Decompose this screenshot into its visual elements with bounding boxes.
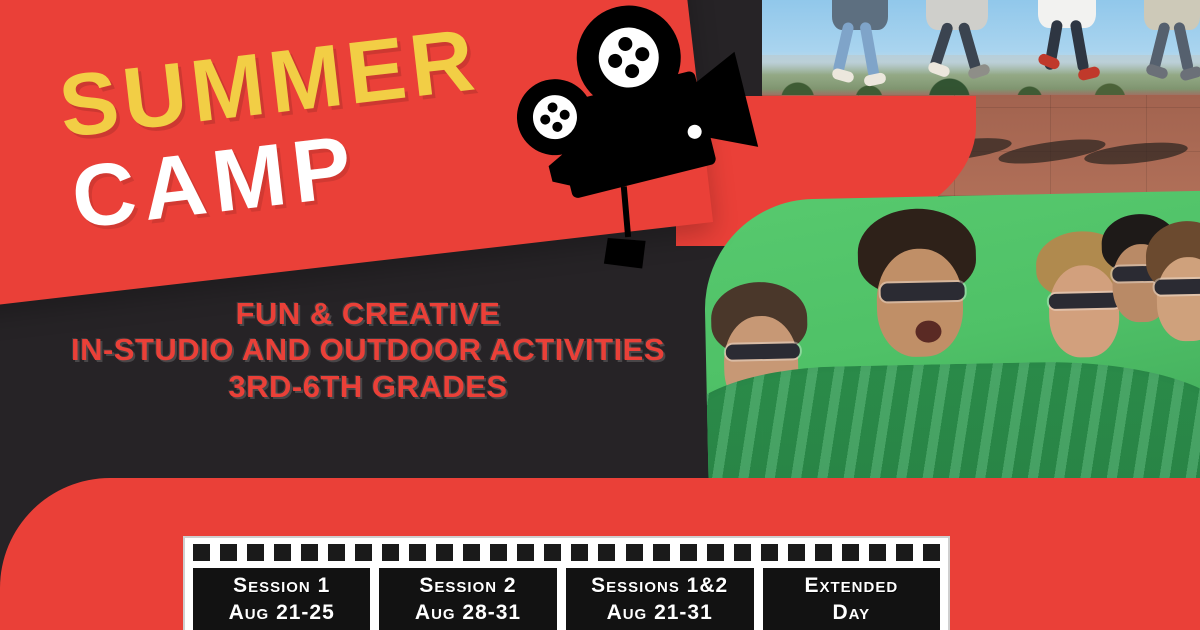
sprocket-hole <box>896 544 913 561</box>
sprocket-hole <box>247 544 264 561</box>
sprocket-hole <box>869 544 886 561</box>
session-title: Sessions 1&2 <box>591 574 728 598</box>
green-screen-photo <box>703 191 1200 521</box>
sunglasses-icon <box>1049 293 1121 310</box>
headline-line-3: 3RD-6TH GRADES <box>0 369 736 405</box>
summer-camp-poster: SUMMER CAMP <box>0 0 1200 630</box>
sprocket-hole <box>328 544 345 561</box>
sunglasses-icon <box>1154 278 1200 294</box>
filmstrip-sessions: Session 1 Aug 21-25 9:00-3:00 Session 2 … <box>183 536 950 630</box>
sprocket-hole <box>598 544 615 561</box>
session-dates: Aug 28-31 <box>415 601 521 625</box>
photo-skyline <box>762 55 1200 99</box>
sprocket-hole <box>707 544 724 561</box>
sprocket-hole <box>355 544 372 561</box>
session-cell[interactable]: Session 2 Aug 28-31 9:00-3:00 <box>379 568 556 630</box>
sprocket-hole <box>815 544 832 561</box>
sprocket-hole <box>436 544 453 561</box>
sprocket-hole <box>193 544 210 561</box>
filmstrip-sprockets <box>193 544 940 561</box>
headline-block: FUN & CREATIVE IN-STUDIO AND OUTDOOR ACT… <box>0 296 736 405</box>
sprocket-hole <box>680 544 697 561</box>
movie-camera-icon <box>505 0 765 269</box>
session-cell[interactable]: Sessions 1&2 Aug 21-31 9:00-3:00 <box>566 568 754 630</box>
session-title: Session 1 <box>233 574 330 598</box>
session-cell[interactable]: Session 1 Aug 21-25 9:00-3:00 <box>193 568 370 630</box>
sprocket-hole <box>220 544 237 561</box>
sprocket-hole <box>571 544 588 561</box>
session-title: Session 2 <box>419 574 516 598</box>
sprocket-hole <box>761 544 778 561</box>
headline-line-1: FUN & CREATIVE <box>0 296 736 332</box>
sunglasses-icon <box>880 282 964 302</box>
extended-day-subtitle: Day <box>833 601 871 625</box>
sunglasses-icon <box>726 343 800 360</box>
extended-day-cell[interactable]: Extended Day <box>763 568 940 630</box>
sprocket-hole <box>517 544 534 561</box>
session-dates: Aug 21-31 <box>607 601 713 625</box>
sprocket-hole <box>544 544 561 561</box>
sprocket-hole <box>734 544 751 561</box>
session-dates: Aug 21-25 <box>229 601 335 625</box>
sprocket-hole <box>653 544 670 561</box>
headline-line-2: IN-STUDIO AND OUTDOOR ACTIVITIES <box>0 332 736 368</box>
sprocket-hole <box>409 544 426 561</box>
sprocket-hole <box>626 544 643 561</box>
sprocket-hole <box>788 544 805 561</box>
sprocket-hole <box>923 544 940 561</box>
sprocket-hole <box>490 544 507 561</box>
sprocket-hole <box>301 544 318 561</box>
sprocket-hole <box>463 544 480 561</box>
sprocket-hole <box>274 544 291 561</box>
extended-day-title: Extended <box>805 574 899 598</box>
sprocket-hole <box>842 544 859 561</box>
sprocket-hole <box>382 544 399 561</box>
